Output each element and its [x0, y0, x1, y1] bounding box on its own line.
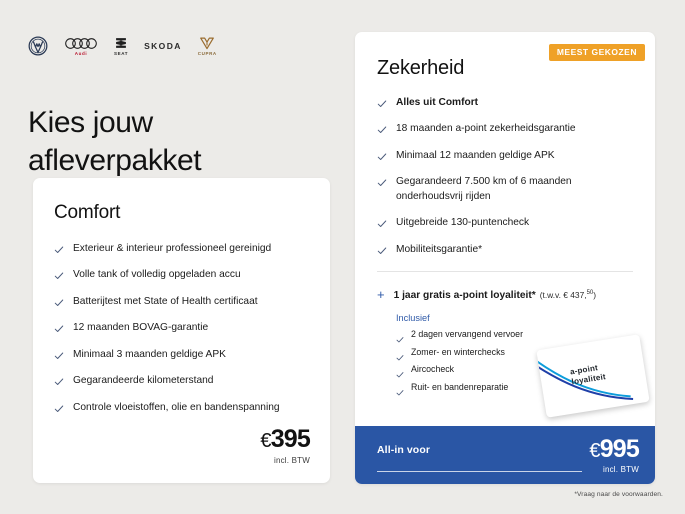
volkswagen-logo: [28, 34, 48, 58]
list-item: Gegarandeerde kilometerstand: [54, 374, 299, 388]
feature-text: Gegarandeerde kilometerstand: [73, 374, 213, 388]
check-icon: [377, 219, 387, 229]
comfort-price-note: incl. BTW: [260, 456, 310, 465]
check-icon: [377, 99, 387, 109]
footnote: *Vraag naar de voorwaarden.: [574, 491, 663, 498]
list-item: 12 maanden BOVAG-garantie: [54, 321, 299, 335]
inclusief-item-text: 2 dagen vervangend vervoer: [411, 329, 523, 340]
list-item: Uitgebreide 130-puntencheck: [377, 216, 632, 230]
allin-label: All-in voor: [377, 444, 430, 456]
audi-logo: Audi: [64, 34, 98, 58]
feature-text: Batterijtest met State of Health certifi…: [73, 295, 258, 309]
feature-text: Alles uit Comfort: [396, 96, 478, 110]
check-icon: [54, 404, 64, 414]
cupra-logo: CUPRA: [198, 34, 217, 58]
currency-symbol: €: [589, 440, 599, 462]
inclusief-item-text: Zomer- en winterchecks: [411, 347, 505, 358]
plus-icon: +: [377, 288, 385, 301]
comfort-price: €395: [260, 427, 310, 452]
list-item: Batterijtest met State of Health certifi…: [54, 295, 299, 309]
check-icon: [54, 271, 64, 281]
audi-wordmark: Audi: [75, 51, 87, 56]
comfort-price-block: €395 incl. BTW: [260, 427, 310, 465]
skoda-logo: SKODA: [144, 34, 182, 58]
zekerheid-feature-list: Alles uit Comfort 18 maanden a-point zek…: [377, 96, 632, 257]
price-amount: 395: [271, 425, 310, 453]
status-badge: MEEST GEKOZEN: [549, 44, 645, 61]
list-item: 18 maanden a-point zekerheidsgarantie: [377, 122, 632, 136]
skoda-wordmark: SKODA: [144, 41, 182, 51]
check-icon: [54, 377, 64, 387]
list-item: Exterieur & interieur professioneel gere…: [54, 242, 299, 256]
zekerheid-price-note: incl. BTW: [589, 465, 639, 474]
feature-text: Exterieur & interieur professioneel gere…: [73, 242, 271, 256]
price-amount: 995: [600, 435, 639, 463]
check-icon: [54, 298, 64, 308]
cupra-wordmark: CUPRA: [198, 51, 217, 56]
zekerheid-price-bar: All-in voor €995 incl. BTW: [355, 426, 655, 484]
section-divider: [377, 271, 633, 272]
loyalty-card-graphic: a-point loyaliteit: [536, 334, 649, 417]
list-item: Mobiliteitsgarantie*: [377, 243, 632, 257]
inclusief-item-text: Ruit- en bandenreparatie: [411, 382, 508, 393]
price-rule: [377, 471, 582, 472]
check-icon: [54, 245, 64, 255]
loyalty-title: 1 jaar gratis a-point loyaliteit*: [394, 290, 536, 301]
page-root: Audi SEAT SKODA CUPRA Kies jouw: [0, 0, 685, 514]
check-icon: [54, 351, 64, 361]
check-icon: [377, 246, 387, 256]
check-icon: [396, 331, 404, 339]
zekerheid-price: €995: [589, 437, 639, 462]
check-icon: [377, 125, 387, 135]
feature-text: 12 maanden BOVAG-garantie: [73, 321, 208, 335]
inclusief-item-text: Aircocheck: [411, 364, 454, 375]
feature-text: Gegarandeerd 7.500 km of 6 maanden onder…: [396, 175, 632, 204]
brand-logo-row: Audi SEAT SKODA CUPRA: [28, 34, 217, 58]
list-item: Volle tank of volledig opgeladen accu: [54, 268, 299, 282]
feature-text: 18 maanden a-point zekerheidsgarantie: [396, 122, 576, 136]
check-icon: [54, 324, 64, 334]
loyalty-value-suffix: ): [593, 290, 596, 300]
seat-logo: SEAT: [114, 34, 128, 58]
feature-text: Mobiliteitsgarantie*: [396, 243, 482, 257]
zekerheid-price-block: €995 incl. BTW: [589, 437, 639, 474]
check-icon: [396, 384, 404, 392]
headline-line-1: Kies jouw: [28, 106, 153, 139]
check-icon: [396, 349, 404, 357]
list-item: Gegarandeerd 7.500 km of 6 maanden onder…: [377, 175, 632, 204]
feature-text: Volle tank of volledig opgeladen accu: [73, 268, 241, 282]
loyalty-headline-row: + 1 jaar gratis a-point loyaliteit*(t.w.…: [377, 285, 645, 303]
feature-text: Uitgebreide 130-puntencheck: [396, 216, 529, 230]
currency-symbol: €: [260, 430, 270, 452]
feature-text: Minimaal 12 maanden geldige APK: [396, 149, 555, 163]
loyalty-value-prefix: (t.w.v. € 437,: [540, 290, 587, 300]
check-icon: [377, 178, 387, 188]
left-column: Audi SEAT SKODA CUPRA Kies jouw: [0, 0, 345, 514]
feature-text: Minimaal 3 maanden geldige APK: [73, 348, 226, 362]
page-title: Kies jouw afleverpakket: [28, 104, 328, 181]
package-card-comfort[interactable]: Comfort Exterieur & interieur profession…: [33, 178, 330, 483]
feature-text: Controle vloeistoffen, olie en bandenspa…: [73, 401, 280, 415]
list-item: Minimaal 12 maanden geldige APK: [377, 149, 632, 163]
headline-line-2: afleverpakket: [28, 144, 201, 177]
inclusief-label: Inclusief: [396, 313, 655, 323]
check-icon: [377, 152, 387, 162]
list-item: Minimaal 3 maanden geldige APK: [54, 348, 299, 362]
package-card-zekerheid[interactable]: MEEST GEKOZEN Zekerheid Alles uit Comfor…: [355, 32, 655, 484]
loyalty-value: (t.w.v. € 437,50): [540, 290, 596, 300]
check-icon: [396, 366, 404, 374]
comfort-feature-list: Exterieur & interieur professioneel gere…: [54, 242, 299, 415]
seat-wordmark: SEAT: [114, 51, 128, 56]
list-item: Alles uit Comfort: [377, 96, 632, 110]
list-item: Controle vloeistoffen, olie en bandenspa…: [54, 401, 299, 415]
comfort-title: Comfort: [54, 202, 330, 224]
